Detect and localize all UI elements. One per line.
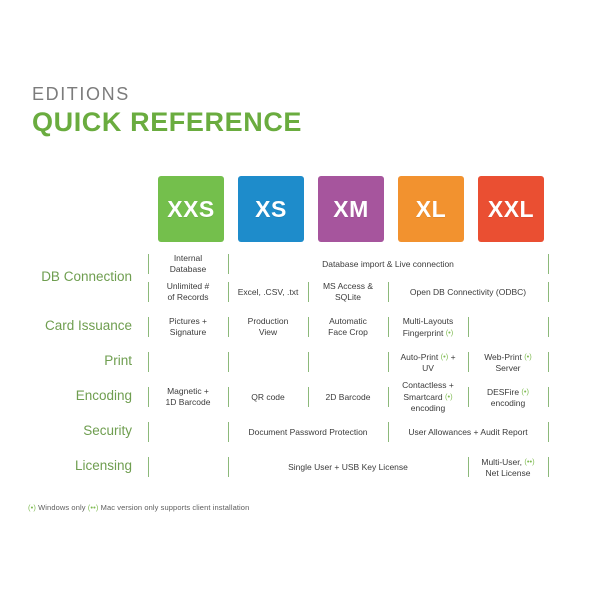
row-label-security: Security <box>83 423 132 438</box>
footnote-marker: (••) <box>524 457 534 466</box>
matrix-cell-text: ProductionView <box>248 316 289 338</box>
cell-separator <box>388 317 389 337</box>
edition-badge-xs: XS <box>238 176 304 242</box>
matrix-cell <box>230 348 306 376</box>
edition-badge-xxs: XXS <box>158 176 224 242</box>
title-eyebrow: EDITIONS <box>32 84 302 104</box>
matrix-cell: 2D Barcode <box>310 383 386 411</box>
title-main: QUICK REFERENCE <box>32 107 302 137</box>
matrix-cell: Multi-User, (••)Net License <box>470 453 546 481</box>
cell-separator <box>468 387 469 407</box>
cell-separator <box>548 317 549 337</box>
cell-separator <box>388 352 389 372</box>
matrix-cell-text: Auto-Print (•) +UV <box>400 351 455 374</box>
matrix-line: Document Password ProtectionUser Allowan… <box>148 418 554 446</box>
matrix-line: Single User + USB Key LicenseMulti-User,… <box>148 453 554 481</box>
matrix-cell-text: Magnetic +1D Barcode <box>166 386 211 408</box>
footnote-marker: (•) <box>441 352 449 361</box>
matrix-cell: Pictures +Signature <box>150 313 226 341</box>
footnote-marker: (•) <box>446 328 454 337</box>
matrix-cell: DESFire (•)encoding <box>470 383 546 411</box>
footnote-text-1: Windows only <box>38 503 85 512</box>
matrix-cell: MS Access &SQLite <box>310 278 386 306</box>
cell-separator <box>548 387 549 407</box>
footnote-text-2: Mac version only supports client install… <box>101 503 250 512</box>
cell-separator <box>548 457 549 477</box>
matrix-cell <box>150 418 226 446</box>
matrix-cell <box>470 313 546 341</box>
cell-separator <box>308 352 309 372</box>
matrix-cell-text: Web-Print (•)Server <box>484 351 532 374</box>
cell-separator <box>228 282 229 302</box>
matrix-cell-text: Single User + USB Key License <box>288 462 408 473</box>
matrix-cell-text: QR code <box>251 392 285 403</box>
matrix-cell <box>150 453 226 481</box>
cell-separator <box>468 352 469 372</box>
cell-separator <box>548 254 549 274</box>
matrix-cell-text: Unlimited #of Records <box>167 281 210 303</box>
row-label-licensing: Licensing <box>75 458 132 473</box>
cell-separator <box>228 352 229 372</box>
cell-separator <box>228 317 229 337</box>
edition-badge-xl: XL <box>398 176 464 242</box>
edition-badge-label: XL <box>416 196 446 223</box>
feature-matrix: InternalDatabaseDatabase import & Live c… <box>148 250 554 488</box>
cell-separator <box>308 282 309 302</box>
matrix-cell: QR code <box>230 383 306 411</box>
cell-separator <box>148 317 149 337</box>
cell-separator <box>388 282 389 302</box>
cell-separator <box>548 422 549 442</box>
cell-separator <box>548 282 549 302</box>
cell-separator <box>228 422 229 442</box>
matrix-cell: Multi-LayoutsFingerprint (•) <box>390 313 466 341</box>
cell-separator <box>468 317 469 337</box>
matrix-cell-text: Multi-User, (••)Net License <box>481 456 534 479</box>
cell-separator <box>228 457 229 477</box>
matrix-cell-text: Excel, .CSV, .txt <box>238 287 299 298</box>
matrix-cell: Unlimited #of Records <box>150 278 226 306</box>
matrix-line: Magnetic +1D BarcodeQR code2D BarcodeCon… <box>148 383 554 411</box>
matrix-cell-text: Document Password Protection <box>248 427 367 438</box>
footnote-marker: (•) <box>445 392 453 401</box>
cell-separator <box>548 352 549 372</box>
edition-badge-label: XS <box>255 196 287 223</box>
matrix-cell-text: Open DB Connectivity (ODBC) <box>410 287 526 298</box>
matrix-cell: Document Password Protection <box>230 418 386 446</box>
cell-separator <box>308 317 309 337</box>
matrix-cell <box>310 348 386 376</box>
cell-separator <box>388 422 389 442</box>
cell-separator <box>468 457 469 477</box>
cell-separator <box>228 254 229 274</box>
cell-separator <box>228 387 229 407</box>
matrix-line: InternalDatabaseDatabase import & Live c… <box>148 250 554 278</box>
cell-separator <box>148 422 149 442</box>
edition-badge-label: XXS <box>167 196 215 223</box>
row-label-db-connection: DB Connection <box>41 269 132 284</box>
matrix-cell: Database import & Live connection <box>230 250 546 278</box>
cell-separator <box>148 387 149 407</box>
cell-separator <box>308 387 309 407</box>
matrix-cell: Magnetic +1D Barcode <box>150 383 226 411</box>
row-label-encoding: Encoding <box>76 388 132 403</box>
matrix-line: Pictures +SignatureProductionViewAutomat… <box>148 313 554 341</box>
cell-separator <box>148 254 149 274</box>
matrix-cell-text: Contactless +Smartcard (•)encoding <box>402 380 454 414</box>
edition-badge-xxl: XXL <box>478 176 544 242</box>
cell-separator <box>388 387 389 407</box>
matrix-line: Unlimited #of RecordsExcel, .CSV, .txtMS… <box>148 278 554 306</box>
matrix-cell-text: InternalDatabase <box>170 253 206 275</box>
cell-separator <box>148 282 149 302</box>
matrix-cell: InternalDatabase <box>150 250 226 278</box>
matrix-cell-text: Multi-LayoutsFingerprint (•) <box>403 316 454 339</box>
matrix-cell-text: AutomaticFace Crop <box>328 316 368 338</box>
matrix-line: Auto-Print (•) +UVWeb-Print (•)Server <box>148 348 554 376</box>
matrix-cell-text: DESFire (•)encoding <box>487 386 529 409</box>
matrix-cell-text: Pictures +Signature <box>169 316 207 338</box>
row-label-print: Print <box>104 353 132 368</box>
matrix-cell-text: Database import & Live connection <box>322 259 454 270</box>
quick-reference-page: EDITIONS QUICK REFERENCE XXSXSXMXLXXL DB… <box>0 0 600 600</box>
matrix-cell <box>150 348 226 376</box>
edition-badge-label: XM <box>333 196 369 223</box>
matrix-cell: Single User + USB Key License <box>230 453 466 481</box>
footnote-mark-1: (•) <box>28 503 36 512</box>
matrix-cell: Excel, .CSV, .txt <box>230 278 306 306</box>
matrix-cell-text: MS Access &SQLite <box>323 281 373 303</box>
edition-badge-xm: XM <box>318 176 384 242</box>
matrix-cell-text: 2D Barcode <box>326 392 371 403</box>
footnote: (•) Windows only (••) Mac version only s… <box>28 503 249 512</box>
matrix-cell: Auto-Print (•) +UV <box>390 348 466 376</box>
edition-badges: XXSXSXMXLXXL <box>158 176 554 242</box>
matrix-cell: ProductionView <box>230 313 306 341</box>
matrix-cell: AutomaticFace Crop <box>310 313 386 341</box>
matrix-cell: Contactless +Smartcard (•)encoding <box>390 383 466 411</box>
matrix-cell: User Allowances + Audit Report <box>390 418 546 446</box>
cell-separator <box>148 352 149 372</box>
cell-separator <box>148 457 149 477</box>
row-label-card-issuance: Card Issuance <box>45 318 132 333</box>
matrix-cell-text: User Allowances + Audit Report <box>408 427 527 438</box>
footnote-marker: (•) <box>521 387 529 396</box>
footnote-mark-2: (••) <box>88 503 99 512</box>
edition-badge-label: XXL <box>488 196 534 223</box>
matrix-cell: Open DB Connectivity (ODBC) <box>390 278 546 306</box>
matrix-cell: Web-Print (•)Server <box>470 348 546 376</box>
page-title: EDITIONS QUICK REFERENCE <box>32 84 302 137</box>
footnote-marker: (•) <box>524 352 532 361</box>
